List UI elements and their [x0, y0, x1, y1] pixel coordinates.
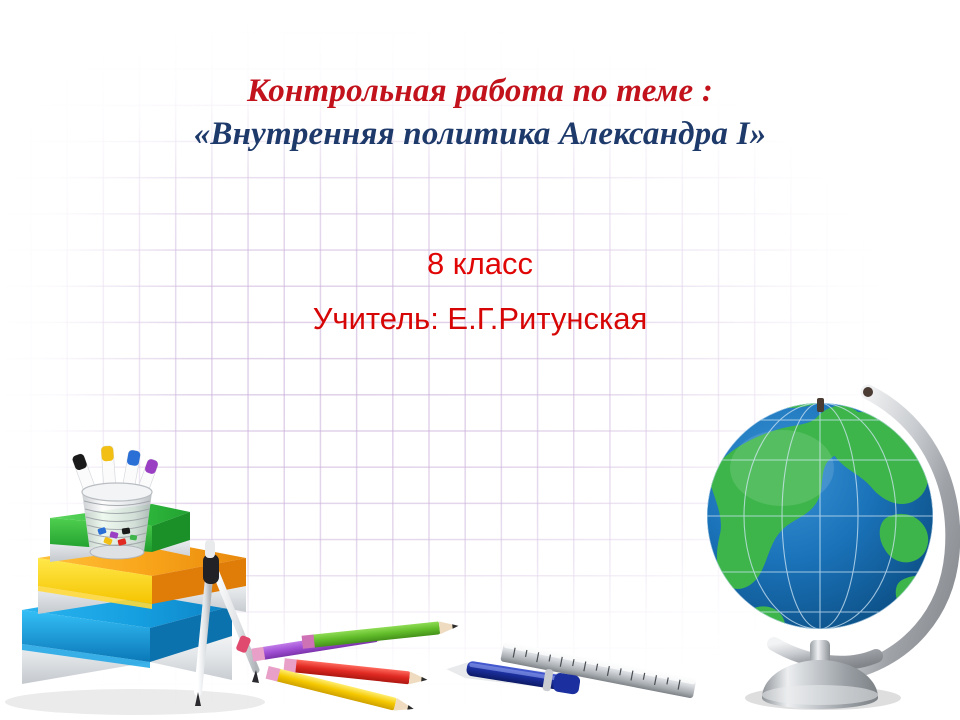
globe-illustration	[690, 368, 960, 720]
title-line-2: «Внутренняя политика Александра I»	[0, 113, 960, 156]
globe-top-pin	[863, 387, 873, 397]
compass-grip	[203, 554, 219, 584]
globe-pole-pin	[817, 398, 824, 412]
pencil-ferrule	[302, 635, 315, 649]
globe-svg	[690, 368, 960, 720]
subtitle-grade: 8 класс	[0, 236, 960, 291]
slide-subtitle: 8 класс Учитель: Е.Г.Ритунская	[0, 236, 960, 346]
writing-tools-svg	[228, 612, 698, 720]
presentation-slide: Контрольная работа по теме : «Внутренняя…	[0, 0, 960, 720]
pencil-ferrule	[251, 647, 265, 662]
subtitle-teacher: Учитель: Е.Г.Ритунская	[0, 291, 960, 346]
slide-title: Контрольная работа по теме : «Внутренняя…	[0, 70, 960, 156]
globe-base-highlight	[762, 685, 878, 705]
compass-knob	[205, 540, 215, 558]
pencil-green	[302, 619, 459, 648]
books-shadow	[5, 689, 265, 715]
writing-tools-illustration	[228, 612, 698, 720]
title-line-1: Контрольная работа по теме :	[0, 70, 960, 113]
